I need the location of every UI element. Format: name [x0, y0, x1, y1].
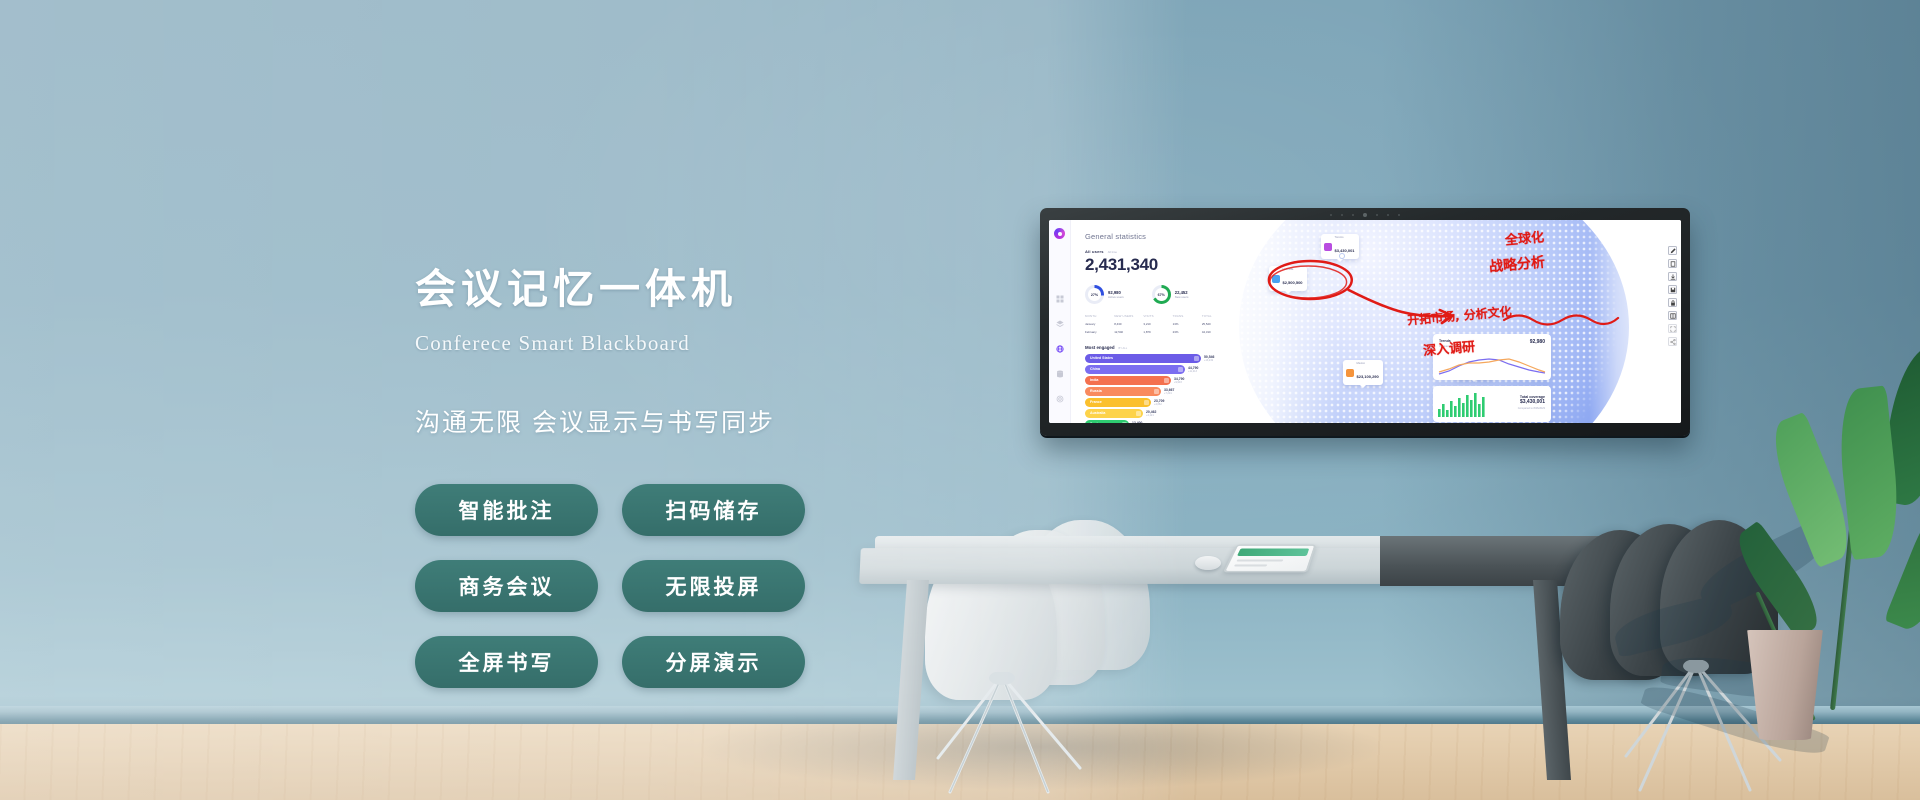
metric-label: All users [1085, 249, 1104, 254]
country-name: France [1090, 400, 1102, 404]
dashboard-sidebar[interactable] [1049, 220, 1071, 423]
lock-icon[interactable] [1668, 298, 1677, 307]
grid-layout-icon[interactable] [1668, 311, 1677, 320]
country-delta: +13,232 [1204, 359, 1214, 362]
hero-tagline: 沟通无限 会议显示与书写同步 [415, 403, 935, 439]
country-delta: +9,903 [1174, 381, 1184, 384]
gear-icon[interactable] [1056, 395, 1064, 403]
table-row: January 8,430 3,210 13% 25,520 [1085, 322, 1231, 326]
download-icon[interactable] [1668, 272, 1677, 281]
country-name: China [1090, 367, 1100, 371]
td-newusers: 12,540 [1114, 330, 1143, 334]
general-statistics-panel: General statistics All users All time 2,… [1085, 232, 1225, 423]
country-flag-chip [1136, 411, 1141, 416]
database-icon[interactable] [1056, 370, 1064, 378]
country-flag-chip [1178, 367, 1183, 372]
map-marker-nashville[interactable]: Nashville $2,500,500 [1269, 266, 1307, 291]
marker-value: $3,430,001 [1335, 248, 1355, 253]
country-flag-chip [1144, 400, 1149, 405]
nashville-marker-icon [1272, 275, 1280, 283]
table-row: February 12,540 1,879 23% 44,310 [1085, 330, 1231, 334]
td-visits: 1,879 [1143, 330, 1172, 334]
map-pin-toronto [1340, 254, 1344, 258]
marker-value: $23,100,290 [1357, 374, 1379, 379]
grid-icon[interactable] [1056, 295, 1064, 303]
table-header-row: MONTH NEW USERS VISITS TRANS. TOTAL [1085, 314, 1231, 318]
hero-copy: 会议记忆一体机 Conferece Smart Blackboard 沟通无限 … [415, 255, 935, 688]
page-title: 会议记忆一体机 [415, 255, 935, 315]
donut-charts: 27% 92,980 Active users 67% 2 [1085, 285, 1225, 304]
country-flag-chip [1164, 378, 1169, 383]
td-total: 25,520 [1202, 322, 1231, 326]
country-name: Russia [1090, 389, 1102, 393]
td-visits: 3,210 [1143, 322, 1172, 326]
country-flag-chip [1122, 422, 1127, 423]
annotation-globalization: 全球化 [1504, 226, 1545, 248]
camera-strip [1330, 213, 1400, 217]
copy-icon[interactable] [1668, 259, 1677, 268]
list-item[interactable]: Spain 12,400+2,900 [1085, 420, 1225, 423]
country-delta: +4,121 [1146, 414, 1156, 417]
donut-active-users: 27% 92,980 Active users [1085, 285, 1124, 304]
tablet-device [1223, 544, 1317, 572]
sidebar-icon-list [1056, 295, 1064, 403]
marker-name: Toronto [1335, 236, 1355, 239]
whiteboard-toolbar[interactable] [1668, 246, 1677, 346]
total-coverage-card[interactable]: Total coverage $3,430,001 Compared to 8/… [1433, 386, 1551, 422]
mexico-marker-icon [1346, 369, 1354, 377]
display-screen[interactable]: Toronto $3,430,001 Nashville $2,500,500 … [1049, 220, 1681, 423]
list-item[interactable]: Russia 33,667+7,201 [1085, 387, 1225, 396]
td-trans: 13% [1173, 322, 1202, 326]
country-delta: +4,662 [1154, 403, 1164, 406]
th-total: TOTAL [1202, 314, 1231, 318]
country-delta: +11,213 [1188, 370, 1198, 373]
card-value: 92,980 [1530, 339, 1545, 345]
engaged-country-bars: United States 50,546+13,232 China 44,790… [1085, 354, 1225, 423]
card-subtitle: Compared to 8/26/2023 [1518, 407, 1545, 410]
pen-icon[interactable] [1668, 246, 1677, 255]
th-month: MONTH [1085, 314, 1114, 318]
td-month: January [1085, 322, 1114, 326]
coverage-bar-chart [1438, 392, 1486, 417]
td-month: February [1085, 330, 1114, 334]
share-icon[interactable] [1668, 337, 1677, 346]
th-visits: VISITS [1143, 314, 1172, 318]
country-flag-chip [1154, 389, 1159, 394]
fullscreen-icon[interactable] [1668, 324, 1677, 333]
page-subtitle: Conferece Smart Blackboard [415, 331, 935, 356]
country-name: India [1090, 378, 1098, 382]
feature-button-qr-save[interactable]: 扫码储存 [622, 484, 805, 536]
feature-button-split-present[interactable]: 分屏演示 [622, 636, 805, 688]
map-marker-mexico[interactable]: Mexico $23,100,290 [1343, 360, 1383, 385]
smart-blackboard-display[interactable]: Toronto $3,430,001 Nashville $2,500,500 … [1040, 208, 1690, 436]
feature-button-unlimited-cast[interactable]: 无限投屏 [622, 560, 805, 612]
save-icon[interactable] [1668, 285, 1677, 294]
panel-title: General statistics [1085, 232, 1225, 241]
td-trans: 23% [1173, 330, 1202, 334]
feature-button-smart-annotation[interactable]: 智能批注 [415, 484, 598, 536]
donut-label: New users [1175, 295, 1189, 299]
td-newusers: 8,430 [1114, 322, 1143, 326]
feature-button-fullscreen-write[interactable]: 全屏书写 [415, 636, 598, 688]
floor-shadow [680, 724, 1580, 800]
th-trans: TRANS. [1173, 314, 1202, 318]
td-total: 44,310 [1202, 330, 1231, 334]
list-item[interactable]: China 44,790+11,213 [1085, 365, 1225, 374]
donut-percent: 27% [1085, 285, 1104, 304]
country-value: 12,400 [1132, 421, 1142, 423]
globe-icon[interactable] [1056, 345, 1064, 353]
card-value: $3,430,001 [1518, 399, 1545, 405]
list-item[interactable]: India 34,790+9,903 [1085, 376, 1225, 385]
marker-value: $2,500,500 [1283, 280, 1303, 285]
monthly-stats-table: MONTH NEW USERS VISITS TRANS. TOTAL Janu… [1085, 314, 1231, 334]
trends-line-chart [1437, 355, 1547, 377]
donut-label: Active users [1108, 295, 1124, 299]
country-flag-chip [1194, 356, 1199, 361]
engaged-title: Most engaged [1085, 345, 1115, 350]
dashboard-main: Toronto $3,430,001 Nashville $2,500,500 … [1071, 220, 1681, 423]
marker-name: Mexico [1357, 362, 1379, 365]
th-newusers: NEW USERS [1114, 314, 1143, 318]
engaged-dropdown[interactable]: BY ALL [1119, 347, 1128, 350]
desk-puck [1195, 556, 1221, 570]
feature-button-grid: 智能批注 扫码储存 商务会议 无限投屏 全屏书写 分屏演示 [415, 484, 935, 688]
metric-dropdown[interactable]: All time [1108, 250, 1117, 254]
donut-percent: 67% [1152, 285, 1171, 304]
country-name: United States [1090, 356, 1113, 360]
layers-icon[interactable] [1056, 320, 1064, 328]
country-name: Spain [1090, 422, 1100, 423]
list-item[interactable]: France 23,709+4,662 [1085, 398, 1225, 407]
list-item[interactable]: United States 50,546+13,232 [1085, 354, 1225, 363]
app-logo-icon [1054, 228, 1065, 239]
country-delta: +7,201 [1164, 392, 1174, 395]
country-name: Australia [1090, 411, 1105, 415]
marker-name: Nashville [1283, 268, 1303, 271]
feature-button-business-meeting[interactable]: 商务会议 [415, 560, 598, 612]
list-item[interactable]: Australia 20,462+4,121 [1085, 409, 1225, 418]
metric-value: 2,431,340 [1085, 255, 1225, 275]
donut-new-users: 67% 22,452 New users [1152, 285, 1189, 304]
toronto-marker-icon [1324, 243, 1332, 251]
